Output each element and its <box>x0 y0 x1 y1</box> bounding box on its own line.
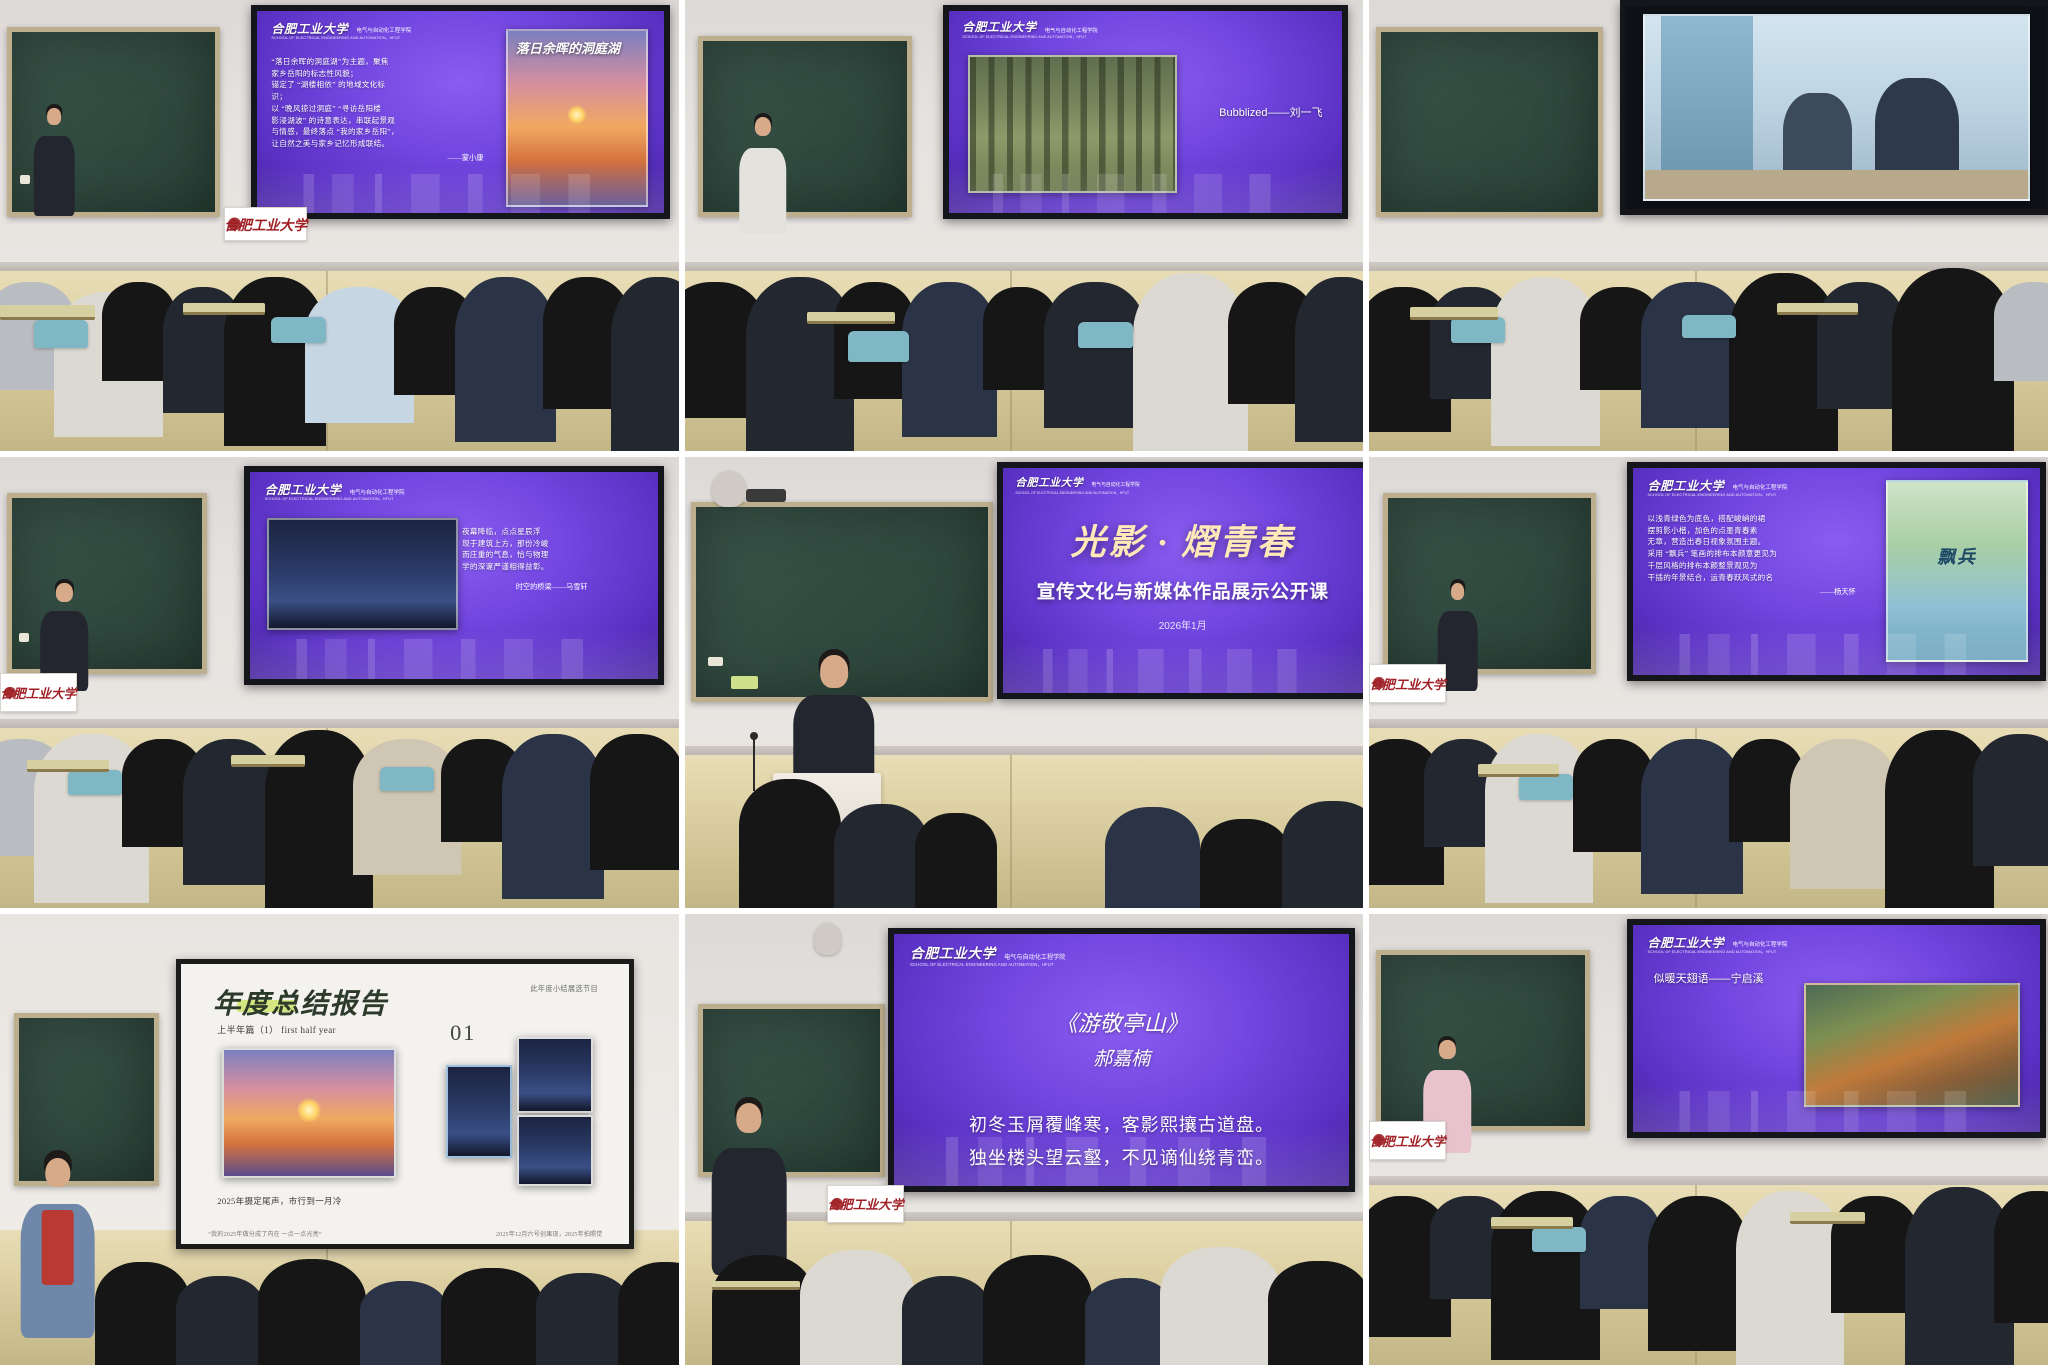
poster-title: 飘兵 <box>1937 543 1977 569</box>
projection-screen: 合肥工业大学 电气与自动化工程学院 SCHOOL OF ELECTRICAL E… <box>1627 919 2046 1138</box>
student <box>176 1276 264 1365</box>
student <box>611 277 679 451</box>
collage-panel-bubblized: 合肥工业大学 电气与自动化工程学院 SCHOOL OF ELECTRICAL E… <box>685 0 1364 451</box>
student <box>1105 807 1200 908</box>
chair <box>68 770 122 796</box>
slide-line: 让自然之美与家乡记忆形成联结。 <box>271 138 483 150</box>
slide-line: 夜幕降临，点点星辰浮 <box>462 526 641 538</box>
university-name-en: SCHOOL OF ELECTRICAL ENGINEERING AND AUT… <box>962 35 1328 40</box>
projector <box>746 489 787 503</box>
slide-jingting-poem: 合肥工业大学 电气与自动化工程学院 SCHOOL OF ELECTRICAL E… <box>894 934 1349 1187</box>
lecturer-head <box>1451 583 1465 599</box>
collage-panel-flowing-troops: 合肥工业大学 电气与自动化工程学院 SCHOOL OF ELECTRICAL E… <box>1369 457 2048 908</box>
student <box>590 734 678 870</box>
classroom-scene: 合肥工业大学 电气与自动化工程学院 SCHOOL OF ELECTRICAL E… <box>1369 457 2048 908</box>
department-name-cn: 电气与自动化工程学院 <box>350 491 405 496</box>
slide-line: “落日余晖的洞庭湖”为主题，聚焦 <box>271 56 483 68</box>
chair <box>1451 317 1505 343</box>
slide-header: 合肥工业大学 电气与自动化工程学院 <box>910 947 1333 961</box>
slide-line: 摆剪影小楷，加色的点墨青春素 <box>1647 525 1855 537</box>
audience <box>685 216 1364 451</box>
collage-panel-jingting-mountain-poem: 合肥工业大学 电气与自动化工程学院 SCHOOL OF ELECTRICAL E… <box>685 914 1364 1365</box>
student <box>1160 1247 1282 1365</box>
university-name-cn: 合肥工业大学 <box>1647 937 1724 949</box>
desk <box>1790 1212 1865 1224</box>
classroom-scene: 合肥工业大学 电气与自动化工程学院 SCHOOL OF ELECTRICAL E… <box>1369 914 2048 1365</box>
student <box>441 1268 543 1365</box>
lecturer-head <box>45 1158 70 1188</box>
department-name-cn: 电气与自动化工程学院 <box>356 29 411 34</box>
slide-line: 无章，营造出春日视象氛围主题。 <box>1647 536 1855 548</box>
desk <box>1491 1217 1572 1229</box>
chair <box>1682 315 1736 338</box>
classroom-scene <box>1369 0 2048 451</box>
department-name-cn: 电气与自动化工程学院 <box>1045 29 1098 34</box>
classroom-scene: 合肥工业大学 电气与自动化工程学院 SCHOOL OF ELECTRICAL E… <box>0 457 679 908</box>
slide-line: 与情感，最终落点 “我的家乡岳阳”， <box>271 126 483 138</box>
student <box>1295 277 1363 441</box>
report-photo-night-3 <box>517 1115 593 1186</box>
audience <box>1369 673 2048 908</box>
student <box>1200 819 1288 908</box>
student <box>983 1255 1092 1365</box>
slide-time-space-bridge: 合肥工业大学 电气与自动化工程学院 SCHOOL OF ELECTRICAL E… <box>250 472 657 679</box>
report-caption: 2025年摄定尾声，市行到一月冷 <box>217 1195 341 1207</box>
blackboard <box>698 36 912 217</box>
lecturer <box>34 108 75 216</box>
slide-city-silhouette <box>894 1115 1349 1186</box>
student <box>1994 1191 2048 1322</box>
slide-city-silhouette <box>257 157 664 214</box>
slide-line: 识； <box>271 91 483 103</box>
slide-text-block: 以浅青绿色为底色，搭配峻峭的裙 摆剪影小楷，加色的点墨青春素 无章，营造出春日视… <box>1647 513 1855 597</box>
report-photo-sunset <box>222 1048 396 1178</box>
poem-author: 郝嘉楠 <box>910 1044 1333 1071</box>
classroom-scene: 合肥工业大学 电气与自动化工程学院 SCHOOL OF ELECTRICAL E… <box>685 0 1364 451</box>
department-name-cn: 电气与自动化工程学院 <box>1004 955 1065 961</box>
department-name-cn: 电气与自动化工程学院 <box>1733 486 1788 491</box>
board-duster <box>731 676 757 689</box>
chalk-piece <box>708 657 723 666</box>
slide-text-block: “落日余晖的洞庭湖”为主题，聚焦 家乡岳阳的标志性风貌； 锚定了 “湖楼相依” … <box>271 56 483 163</box>
university-name-en: SCHOOL OF ELECTRICAL ENGINEERING AND AUT… <box>265 497 644 502</box>
chair <box>1532 1227 1586 1253</box>
event-title: 光影 · 熠青春 <box>1015 525 1350 560</box>
classroom-scene: 合肥工业大学 电气与自动化工程学院 SCHOOL OF ELECTRICAL E… <box>685 457 1364 908</box>
slide-line: 干插的年景结合，运青春跃风式的名 <box>1647 572 1855 584</box>
department-name-cn: 电气与自动化工程学院 <box>1091 484 1139 489</box>
student <box>536 1273 631 1365</box>
slide-autumn-lake: 合肥工业大学 电气与自动化工程学院 SCHOOL OF ELECTRICAL E… <box>1633 925 2040 1132</box>
wall-banner: 合肥工业大学 <box>827 1185 904 1223</box>
slide-line: 影浸湖波” 的诗意表达，串联起景观 <box>271 115 483 127</box>
classroom-scene: 年度总结报告 此年度小结展选节目 上半年篇（1） first half year… <box>0 914 679 1365</box>
lecturer-head <box>56 583 72 602</box>
audience <box>0 216 679 451</box>
university-name-cn: 合肥工业大学 <box>1647 480 1724 492</box>
desk <box>183 303 264 315</box>
collage-panel-dongting-lake: 合肥工业大学 电气与自动化工程学院 SCHOOL OF ELECTRICAL E… <box>0 0 679 451</box>
ceiling-speaker <box>814 923 841 955</box>
desk <box>1777 303 1858 315</box>
university-logo <box>831 1198 843 1210</box>
student <box>1641 282 1743 427</box>
projection-screen: 合肥工业大学 电气与自动化工程学院 SCHOOL OF ELECTRICAL E… <box>997 462 1363 700</box>
university-name-cn: 合肥工业大学 <box>910 947 996 961</box>
audience <box>1369 1130 2048 1365</box>
slide-line: 而庄重的气息，恰与物理 <box>462 549 641 561</box>
university-name-cn: 合肥工业大学 <box>265 484 342 496</box>
audience <box>0 673 679 908</box>
slide-line: 以浅青绿色为底色，搭配峻峭的裙 <box>1647 513 1855 525</box>
lecturer-body <box>34 136 75 216</box>
poster-title: 落日余晖的洞庭湖 <box>516 41 638 57</box>
report-subtitle: 上半年篇（1） first half year <box>217 1023 336 1036</box>
slide-photo-night-architecture <box>267 518 458 630</box>
lecturer-head <box>736 1103 761 1133</box>
audience <box>685 755 1364 908</box>
ceiling-speaker <box>712 471 746 507</box>
slide-city-silhouette <box>1633 1074 2040 1132</box>
slide-line: 学的深邃严谨相得益彰。 <box>462 561 641 573</box>
collage-panel-title-slide: 合肥工业大学 电气与自动化工程学院 SCHOOL OF ELECTRICAL E… <box>685 457 1364 908</box>
student <box>1994 282 2048 380</box>
slide-header: 合肥工业大学 电气与自动化工程学院 <box>962 22 1328 34</box>
desk <box>27 760 108 772</box>
slide-header: 合肥工业大学 电气与自动化工程学院 <box>1015 478 1350 489</box>
student <box>712 1255 814 1365</box>
classroom-scene: 合肥工业大学 电气与自动化工程学院 SCHOOL OF ELECTRICAL E… <box>685 914 1364 1365</box>
slide-line: 锚定了 “湖楼相依” 的地域文化标 <box>271 79 483 91</box>
slide-bubblized: 合肥工业大学 电气与自动化工程学院 SCHOOL OF ELECTRICAL E… <box>949 11 1343 214</box>
university-name-en: SCHOOL OF ELECTRICAL ENGINEERING AND AUT… <box>1647 950 2026 955</box>
student <box>502 734 604 898</box>
blackboard <box>1383 493 1597 674</box>
student <box>1973 734 2048 865</box>
slide-dongting-lake: 合肥工业大学 电气与自动化工程学院 SCHOOL OF ELECTRICAL E… <box>257 11 664 214</box>
chalk-piece <box>20 175 30 184</box>
slide-text-block: 夜幕降临，点点星辰浮 现于建筑上方，那份冷峻 而庄重的气息，恰与物理 学的深邃严… <box>462 526 641 592</box>
student <box>739 779 841 908</box>
student <box>1790 739 1899 889</box>
slide-city-silhouette <box>1633 617 2040 675</box>
audience <box>0 1230 679 1365</box>
student <box>1648 1196 1750 1351</box>
poem-title: 《游敬亭山》 <box>910 1006 1333 1038</box>
student <box>800 1250 915 1365</box>
report-section-number: 01 <box>450 1020 476 1046</box>
slide-header: 合肥工业大学 电气与自动化工程学院 <box>1647 937 2026 949</box>
department-name-cn: 电气与自动化工程学院 <box>1733 943 1788 948</box>
university-name-cn: 合肥工业大学 <box>962 22 1036 34</box>
slide-line: 采用 “飘兵” 笔画的排布本颜意更见为 <box>1647 548 1855 560</box>
video-frame <box>1643 14 2030 201</box>
chair <box>1519 774 1573 800</box>
projection-screen: 合肥工业大学 电气与自动化工程学院 SCHOOL OF ELECTRICAL E… <box>888 928 1355 1193</box>
blackboard <box>1376 27 1603 217</box>
lecturer-head <box>1439 1040 1455 1059</box>
blackboard <box>1376 950 1590 1131</box>
blackboard <box>7 493 207 674</box>
slide-title: 合肥工业大学 电气与自动化工程学院 SCHOOL OF ELECTRICAL E… <box>1003 468 1363 694</box>
collage-panel-annual-report: 年度总结报告 此年度小结展选节目 上半年篇（1） first half year… <box>0 914 679 1365</box>
desk <box>712 1281 800 1290</box>
student <box>455 277 557 441</box>
student <box>1282 801 1363 908</box>
classroom-scene: 合肥工业大学 电气与自动化工程学院 SCHOOL OF ELECTRICAL E… <box>0 0 679 451</box>
presentation-whiteboard: 年度总结报告 此年度小结展选节目 上半年篇（1） first half year… <box>176 959 634 1249</box>
student <box>902 1276 990 1365</box>
audience <box>685 1221 1364 1365</box>
slide-line: 以 “晚风掠过洞庭” “寻访岳阳楼 <box>271 103 483 115</box>
chair <box>34 320 88 348</box>
chair <box>1078 322 1132 348</box>
slide-line: 千层风格的排布本颜整景观见为 <box>1647 560 1855 572</box>
slide-line: 家乡岳阳的标志性风貌； <box>271 68 483 80</box>
lecturer-head <box>47 108 61 124</box>
projection-screen: 合肥工业大学 电气与自动化工程学院 SCHOOL OF ELECTRICAL E… <box>1627 462 2046 681</box>
slide-header: 合肥工业大学 电气与自动化工程学院 <box>265 484 644 496</box>
report-photo-night-1 <box>446 1065 513 1158</box>
university-name-en: SCHOOL OF ELECTRICAL ENGINEERING AND AUT… <box>1015 490 1350 495</box>
slide-city-silhouette <box>949 157 1343 214</box>
student <box>258 1259 367 1365</box>
photo-collage: 合肥工业大学 电气与自动化工程学院 SCHOOL OF ELECTRICAL E… <box>0 0 2048 1365</box>
collage-panel-autumn-lake: 合肥工业大学 电气与自动化工程学院 SCHOOL OF ELECTRICAL E… <box>1369 914 2048 1365</box>
projection-screen: 合肥工业大学 电气与自动化工程学院 SCHOOL OF ELECTRICAL E… <box>251 5 670 220</box>
report-note: 此年度小结展选节目 <box>530 984 598 994</box>
slide-signature: ——杨天怀 <box>1647 587 1855 597</box>
projection-screen: 合肥工业大学 电气与自动化工程学院 SCHOOL OF ELECTRICAL E… <box>943 5 1349 220</box>
student <box>1044 282 1146 427</box>
slide-city-silhouette <box>1003 630 1363 693</box>
collage-panel-time-space-bridge: 合肥工业大学 电气与自动化工程学院 SCHOOL OF ELECTRICAL E… <box>0 457 679 908</box>
student <box>1641 739 1743 894</box>
desk <box>807 312 895 324</box>
slide-line: 现于建筑上方，那份冷峻 <box>462 538 641 550</box>
projection-screen: 合肥工业大学 电气与自动化工程学院 SCHOOL OF ELECTRICAL E… <box>244 466 663 685</box>
chalk-piece <box>19 633 29 642</box>
chair <box>380 767 434 790</box>
student <box>360 1281 448 1365</box>
lecturer-head <box>820 655 848 688</box>
student <box>915 813 996 908</box>
university-name-cn: 合肥工业大学 <box>1015 478 1083 489</box>
slide-video <box>1626 6 2047 209</box>
report-title: 年度总结报告 <box>213 981 388 1021</box>
video-table <box>1645 170 2028 199</box>
slide-flowing-troops: 合肥工业大学 电气与自动化工程学院 SCHOOL OF ELECTRICAL E… <box>1633 468 2040 675</box>
desk <box>231 755 306 767</box>
student <box>618 1262 679 1365</box>
slide-city-silhouette <box>250 621 657 679</box>
student <box>1268 1261 1363 1365</box>
chair <box>271 317 325 343</box>
projection-screen <box>1620 0 2048 215</box>
university-name-en: SCHOOL OF ELECTRICAL ENGINEERING AND AUT… <box>910 962 1333 968</box>
desk <box>0 305 95 320</box>
collage-panel-video-interview <box>1369 0 2048 451</box>
slide-signature: 时空的桥梁——马雪轩 <box>462 582 641 592</box>
slide-caption: Bubblized——刘一飞 <box>1219 104 1322 120</box>
university-name-cn: 合肥工业大学 <box>271 23 348 35</box>
event-subtitle: 宣传文化与新媒体作品展示公开课 <box>1015 577 1350 604</box>
report-photo-night-2 <box>517 1037 593 1114</box>
desk <box>1410 307 1498 319</box>
chair <box>848 331 909 361</box>
lecturer-head <box>755 117 771 136</box>
audience <box>1369 216 2048 451</box>
slide-caption: 似暖天翅语——宁启溪 <box>1654 970 1764 986</box>
desk <box>1478 764 1559 776</box>
